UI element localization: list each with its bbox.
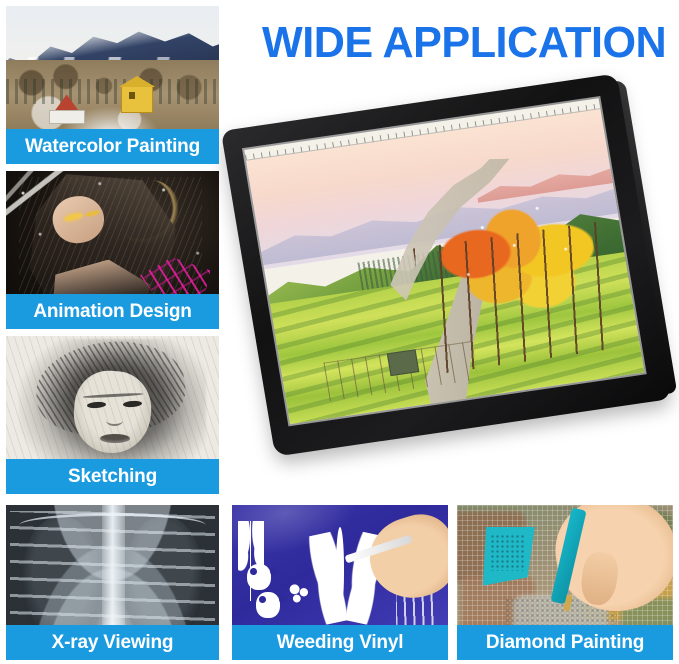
panel-sketching[interactable]: Sketching [6, 336, 219, 494]
panel-caption-watercolor-painting: Watercolor Painting [6, 129, 219, 164]
vinyl-heart-cutouts [288, 583, 310, 605]
page-title: WIDE APPLICATION [262, 16, 666, 70]
panel-animation-design[interactable]: Animation Design [6, 171, 219, 329]
watercolor-yellow-house [121, 85, 153, 113]
wide-application-banner: WIDE APPLICATION Watercolor Painting [0, 0, 679, 664]
panel-watercolor-painting[interactable]: Watercolor Painting [6, 6, 219, 164]
vinyl-owl-cutout-bottom [256, 592, 280, 618]
panel-weeding-vinyl[interactable]: Weeding Vinyl [232, 505, 448, 660]
watercolor-treeline [6, 79, 219, 104]
watercolor-white-house [49, 110, 85, 124]
light-pad-hero[interactable] [228, 78, 679, 498]
vinyl-owl-cutout-top [247, 564, 271, 590]
panel-caption-animation-design: Animation Design [6, 294, 219, 329]
panel-caption-xray-viewing: X-ray Viewing [6, 625, 219, 660]
panel-caption-sketching: Sketching [6, 459, 219, 494]
panel-xray-viewing[interactable]: X-ray Viewing [6, 505, 219, 660]
diamond-tray [483, 527, 535, 586]
panel-diamond-painting[interactable]: Diamond Painting [457, 505, 673, 660]
panel-caption-diamond-painting: Diamond Painting [457, 625, 673, 660]
panel-caption-weeding-vinyl: Weeding Vinyl [232, 625, 448, 660]
light-pad-device [221, 73, 671, 456]
light-pad-surface [244, 98, 644, 424]
